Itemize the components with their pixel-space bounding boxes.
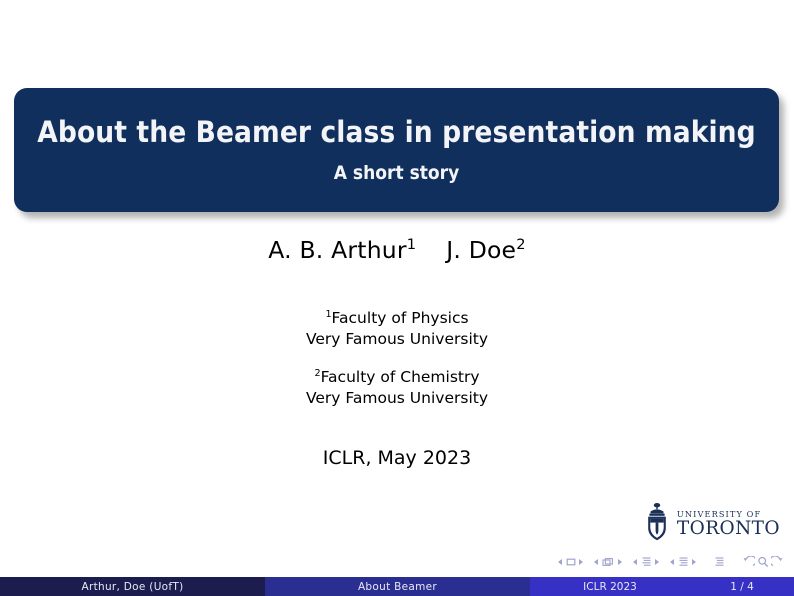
slide-body: A. B. Arthur1J. Doe2 1Faculty of Physics… [0, 236, 794, 469]
find-nav-group[interactable] [757, 556, 769, 568]
frame-nav-icon[interactable] [602, 557, 615, 568]
footer-page-indicator: 1 / 4 [690, 577, 794, 596]
previous-slide-icon[interactable] [558, 559, 562, 565]
subsection-nav-group[interactable] [633, 556, 659, 568]
affiliation-department-line: 2Faculty of Chemistry [0, 367, 794, 388]
footer-title: About Beamer [265, 577, 530, 596]
beamer-navigation-symbols[interactable] [558, 552, 784, 572]
slide-nav-icon[interactable] [566, 557, 576, 567]
affiliation-block: 1Faculty of Physics Very Famous Universi… [0, 308, 794, 349]
presentation-nav-group[interactable] [714, 556, 725, 568]
previous-section-icon[interactable] [670, 559, 674, 565]
section-nav-icon[interactable] [678, 556, 689, 568]
affiliation-institution: Very Famous University [0, 388, 794, 409]
author-footnote-mark: 1 [407, 236, 416, 253]
next-subsection-icon[interactable] [655, 559, 659, 565]
footer-event: ICLR 2023 [530, 577, 690, 596]
back-nav-group[interactable] [742, 556, 755, 568]
next-slide-icon[interactable] [579, 559, 583, 565]
presentation-nav-icon[interactable] [714, 556, 725, 568]
wordmark-line-1: UNIVERSITY OF [677, 510, 780, 518]
university-logo: UNIVERSITY OF TORONTO [644, 502, 780, 546]
footer-bar: Arthur, Doe (UofT) About Beamer ICLR 202… [0, 577, 794, 596]
author-entry: J. Doe2 [446, 236, 525, 264]
footer-author: Arthur, Doe (UofT) [0, 577, 265, 596]
back-nav-icon[interactable] [742, 556, 755, 568]
university-of-toronto-crest-icon [644, 502, 670, 546]
affiliation-department-line: 1Faculty of Physics [0, 308, 794, 329]
authors-row: A. B. Arthur1J. Doe2 [0, 236, 794, 264]
affiliation-department: Faculty of Physics [332, 309, 469, 327]
section-nav-group[interactable] [670, 556, 696, 568]
frame-nav-group[interactable] [594, 557, 622, 568]
author-footnote-mark: 2 [516, 236, 525, 253]
wordmark-line-2: TORONTO [677, 520, 780, 539]
page-subtitle: A short story [334, 164, 460, 183]
next-frame-icon[interactable] [618, 559, 622, 565]
author-name: A. B. Arthur [268, 236, 406, 264]
forward-nav-group[interactable] [771, 556, 784, 568]
previous-frame-icon[interactable] [594, 559, 598, 565]
affiliation-department: Faculty of Chemistry [321, 368, 480, 386]
previous-subsection-icon[interactable] [633, 559, 637, 565]
footer-meta: ICLR 2023 1 / 4 [530, 577, 794, 596]
forward-nav-icon[interactable] [771, 556, 784, 568]
affiliation-institution: Very Famous University [0, 329, 794, 350]
affiliation-block: 2Faculty of Chemistry Very Famous Univer… [0, 367, 794, 408]
page-title: About the Beamer class in presentation m… [23, 117, 770, 148]
author-entry: A. B. Arthur1 [268, 236, 416, 264]
subsection-nav-icon[interactable] [641, 556, 652, 568]
next-section-icon[interactable] [692, 559, 696, 565]
title-block: About the Beamer class in presentation m… [14, 88, 779, 212]
slide-nav-group[interactable] [558, 557, 583, 567]
university-wordmark: UNIVERSITY OF TORONTO [677, 510, 780, 539]
find-nav-icon[interactable] [757, 556, 769, 568]
author-name: J. Doe [446, 236, 516, 264]
event-date: ICLR, May 2023 [0, 447, 794, 470]
